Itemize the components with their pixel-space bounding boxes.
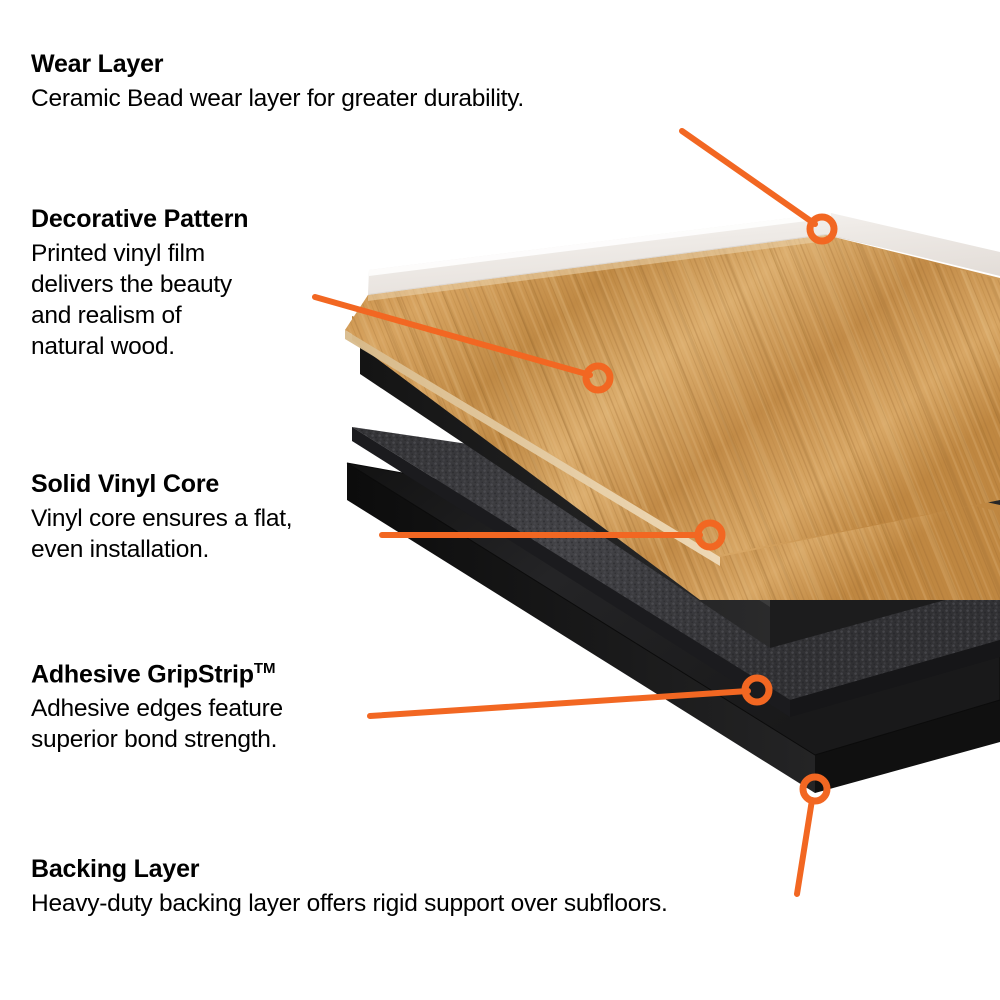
callout-body-line: Printed vinyl film [31, 238, 331, 269]
callout-title-solid-vinyl-core: Solid Vinyl Core [31, 470, 411, 500]
callout-body-line: delivers the beauty [31, 269, 331, 300]
callout-body-line: and realism of [31, 300, 331, 331]
callout-adhesive-gripstrip: Adhesive GripStripTM Adhesive edges feat… [31, 660, 401, 755]
callout-body-solid-vinyl-core: Vinyl core ensures a flat, even installa… [31, 503, 411, 565]
callout-title-wear-layer: Wear Layer [31, 50, 721, 80]
callout-body-line: Vinyl core ensures a flat, [31, 503, 411, 534]
callout-wear-layer: Wear Layer Ceramic Bead wear layer for g… [31, 50, 721, 114]
callout-body-line: superior bond strength. [31, 724, 401, 755]
callout-solid-vinyl-core: Solid Vinyl Core Vinyl core ensures a fl… [31, 470, 411, 565]
callout-body-adhesive-gripstrip: Adhesive edges feature superior bond str… [31, 693, 401, 755]
trademark-superscript: TM [254, 660, 276, 677]
callout-title-text: Adhesive GripStrip [31, 660, 254, 688]
callout-title-adhesive-gripstrip: Adhesive GripStripTM [31, 660, 401, 690]
callout-body-backing-layer: Heavy-duty backing layer offers rigid su… [31, 888, 931, 919]
callout-body-line: Adhesive edges feature [31, 693, 401, 724]
callout-body-line: even installation. [31, 534, 411, 565]
diagram-page: Wear Layer Ceramic Bead wear layer for g… [0, 0, 1000, 1000]
callout-backing-layer: Backing Layer Heavy-duty backing layer o… [31, 855, 931, 919]
callout-title-decorative-pattern: Decorative Pattern [31, 205, 331, 235]
callout-body-line: Ceramic Bead wear layer for greater dura… [31, 83, 721, 114]
callout-body-line: natural wood. [31, 331, 331, 362]
callout-body-wear-layer: Ceramic Bead wear layer for greater dura… [31, 83, 721, 114]
leader-line-wear-layer [682, 131, 815, 224]
callout-body-line: Heavy-duty backing layer offers rigid su… [31, 888, 931, 919]
callout-title-backing-layer: Backing Layer [31, 855, 931, 885]
callout-body-decorative-pattern: Printed vinyl film delivers the beauty a… [31, 238, 331, 362]
callout-decorative-pattern: Decorative Pattern Printed vinyl film de… [31, 205, 331, 362]
